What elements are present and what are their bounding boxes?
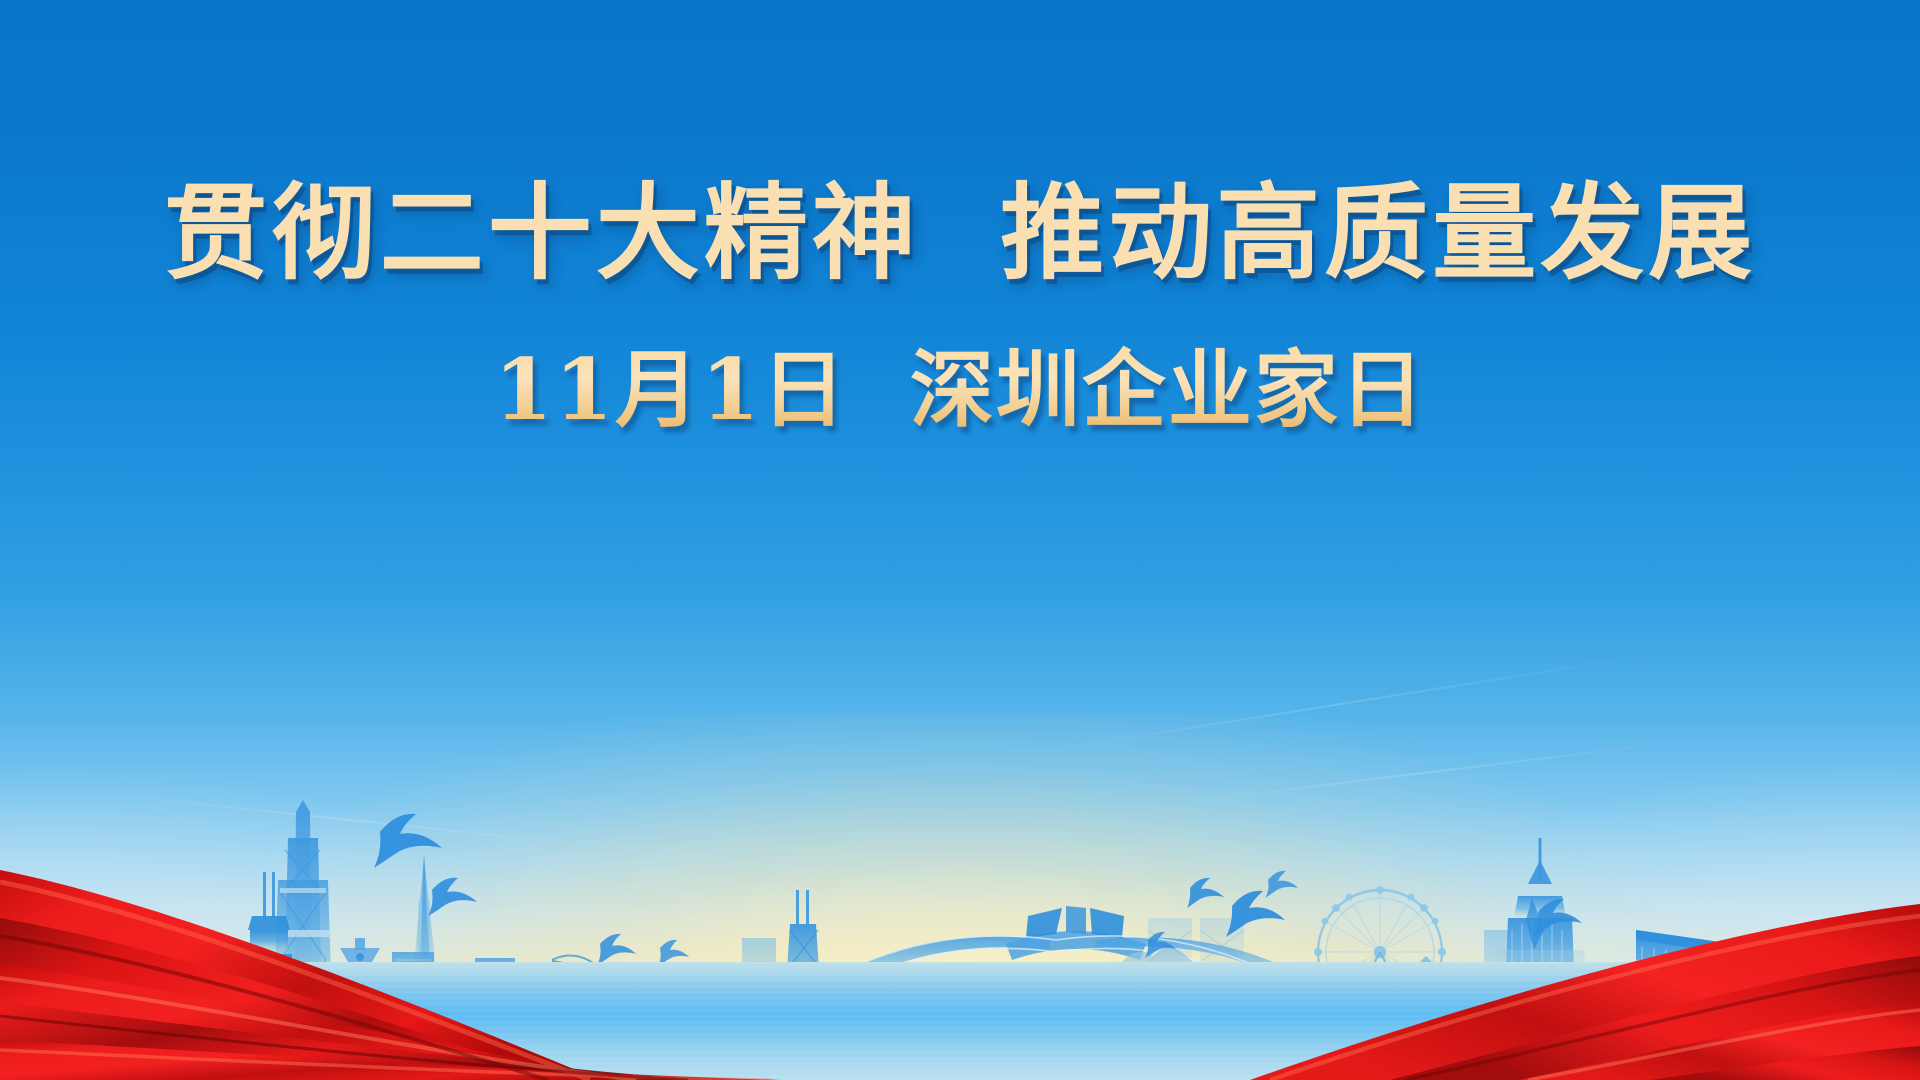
page-title-sub: 11月1日 深圳企业家日 bbox=[0, 288, 1920, 434]
poster-canvas: 贯彻二十大精神 推动高质量发展 11月1日 深圳企业家日 bbox=[0, 0, 1920, 1080]
headline-block: 贯彻二十大精神 推动高质量发展 11月1日 深圳企业家日 bbox=[0, 0, 1920, 434]
page-title-main: 贯彻二十大精神 推动高质量发展 bbox=[0, 0, 1920, 288]
